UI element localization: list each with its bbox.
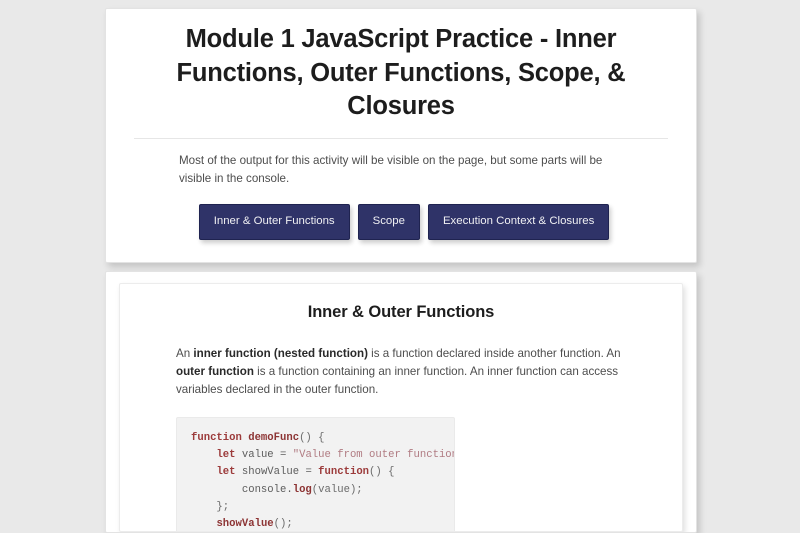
code-token: function [191,432,248,444]
inner-content-card: Inner & Outer Functions An inner functio… [119,283,683,532]
section-heading: Inner & Outer Functions [176,303,626,322]
code-token: demoFunc [248,432,299,444]
code-token: console. [191,484,293,496]
code-token: (); [274,518,293,530]
paragraph-bold-inner-function: inner function (nested function) [193,347,368,360]
paragraph-lead: An [176,347,193,360]
code-token: () { [299,432,324,444]
code-token: "Value from outer function" [293,449,455,461]
paragraph-bold-outer-function: outer function [176,365,254,378]
header-divider [134,138,668,139]
page-title: Module 1 JavaScript Practice - Inner Fun… [134,23,668,124]
nav-button-execution-context-closures[interactable]: Execution Context & Closures [428,204,609,240]
code-content: function demoFunc() { let value = "Value… [191,432,455,532]
code-sample-inner-outer-functions: function demoFunc() { let value = "Value… [176,417,455,532]
nav-button-inner-outer-functions[interactable]: Inner & Outer Functions [199,204,350,240]
code-token: value = [236,449,293,461]
code-token: () { [369,466,394,478]
code-token: log [293,484,312,496]
page-root: Module 1 JavaScript Practice - Inner Fun… [0,0,800,450]
intro-text: Most of the output for this activity wil… [134,152,609,188]
header-card: Module 1 JavaScript Practice - Inner Fun… [105,8,697,263]
nav-button-scope[interactable]: Scope [358,204,420,240]
code-token [191,518,216,530]
content-card: Inner & Outer Functions An inner functio… [105,271,697,533]
paragraph-mid: is a function declared inside another fu… [368,347,621,360]
code-token: showValue [216,518,273,530]
section-nav: Inner & Outer Functions Scope Execution … [134,204,668,240]
code-token: let [216,466,235,478]
code-token: (value); [312,484,363,496]
code-token: function [318,466,369,478]
code-token [191,466,216,478]
code-token: }; [191,501,229,513]
section-paragraph: An inner function (nested function) is a… [176,345,626,399]
code-token [191,449,216,461]
code-token: let [216,449,235,461]
code-token: showValue = [236,466,319,478]
